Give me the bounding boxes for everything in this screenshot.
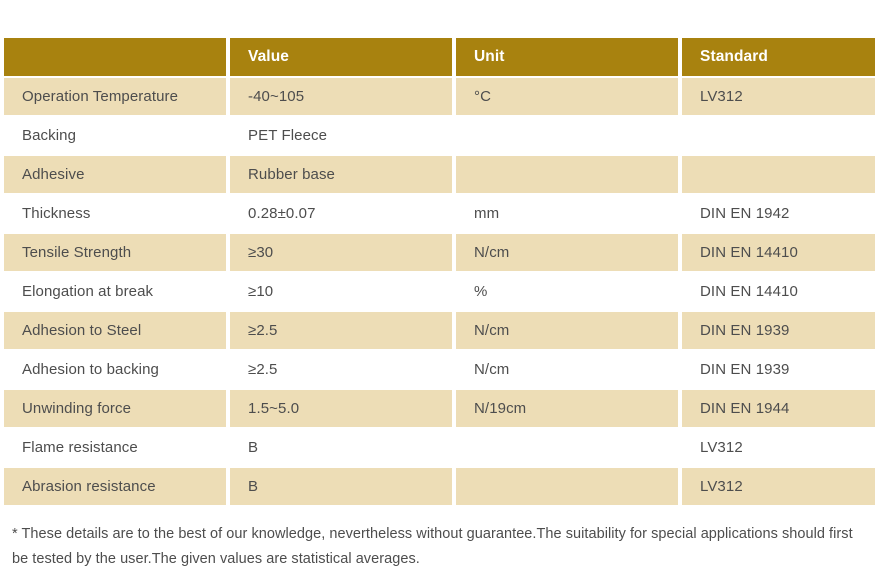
cell-value: B	[230, 468, 452, 505]
table-row: Abrasion resistance B LV312	[4, 468, 875, 505]
column-header-property	[4, 38, 226, 76]
cell-standard: DIN EN 14410	[682, 234, 875, 271]
disclaimer-footnote: * These details are to the best of our k…	[12, 522, 868, 572]
cell-unit: %	[456, 273, 678, 310]
table-header: Value Unit Standard	[4, 38, 875, 76]
cell-property: Flame resistance	[4, 429, 226, 466]
cell-standard: DIN EN 1942	[682, 195, 875, 232]
cell-property: Tensile Strength	[4, 234, 226, 271]
table-row: Elongation at break ≥10 % DIN EN 14410	[4, 273, 875, 310]
table-row: Adhesive Rubber base	[4, 156, 875, 193]
cell-unit: N/19cm	[456, 390, 678, 427]
cell-unit: N/cm	[456, 351, 678, 388]
cell-standard	[682, 117, 875, 154]
column-header-value: Value	[230, 38, 452, 76]
cell-property: Adhesion to Steel	[4, 312, 226, 349]
cell-value: 0.28±0.07	[230, 195, 452, 232]
cell-value: ≥2.5	[230, 312, 452, 349]
cell-value: PET Fleece	[230, 117, 452, 154]
column-header-unit: Unit	[456, 38, 678, 76]
cell-value: ≥2.5	[230, 351, 452, 388]
cell-value: B	[230, 429, 452, 466]
cell-standard: DIN EN 1944	[682, 390, 875, 427]
cell-property: Adhesion to backing	[4, 351, 226, 388]
cell-value: -40~105	[230, 78, 452, 115]
cell-property: Backing	[4, 117, 226, 154]
cell-standard: DIN EN 14410	[682, 273, 875, 310]
cell-property: Adhesive	[4, 156, 226, 193]
cell-unit	[456, 468, 678, 505]
table-row: Thickness 0.28±0.07 mm DIN EN 1942	[4, 195, 875, 232]
table-row: Unwinding force 1.5~5.0 N/19cm DIN EN 19…	[4, 390, 875, 427]
cell-standard: LV312	[682, 468, 875, 505]
cell-unit: mm	[456, 195, 678, 232]
cell-unit	[456, 429, 678, 466]
cell-standard: LV312	[682, 429, 875, 466]
table-body: Operation Temperature -40~105 °C LV312 B…	[4, 78, 875, 505]
cell-property: Unwinding force	[4, 390, 226, 427]
spec-sheet: Value Unit Standard Operation Temperatur…	[0, 0, 875, 585]
cell-value: 1.5~5.0	[230, 390, 452, 427]
cell-unit: N/cm	[456, 234, 678, 271]
table-row: Backing PET Fleece	[4, 117, 875, 154]
column-header-standard: Standard	[682, 38, 875, 76]
table-row: Tensile Strength ≥30 N/cm DIN EN 14410	[4, 234, 875, 271]
cell-property: Thickness	[4, 195, 226, 232]
table-row: Operation Temperature -40~105 °C LV312	[4, 78, 875, 115]
cell-property: Abrasion resistance	[4, 468, 226, 505]
table-row: Adhesion to backing ≥2.5 N/cm DIN EN 193…	[4, 351, 875, 388]
cell-unit	[456, 156, 678, 193]
cell-unit	[456, 117, 678, 154]
cell-standard	[682, 156, 875, 193]
cell-value: ≥10	[230, 273, 452, 310]
specifications-table: Value Unit Standard Operation Temperatur…	[0, 36, 875, 507]
cell-value: Rubber base	[230, 156, 452, 193]
cell-unit: N/cm	[456, 312, 678, 349]
cell-standard: DIN EN 1939	[682, 312, 875, 349]
cell-standard: LV312	[682, 78, 875, 115]
cell-unit: °C	[456, 78, 678, 115]
cell-property: Elongation at break	[4, 273, 226, 310]
table-header-row: Value Unit Standard	[4, 38, 875, 76]
cell-property: Operation Temperature	[4, 78, 226, 115]
table-row: Adhesion to Steel ≥2.5 N/cm DIN EN 1939	[4, 312, 875, 349]
cell-standard: DIN EN 1939	[682, 351, 875, 388]
cell-value: ≥30	[230, 234, 452, 271]
table-row: Flame resistance B LV312	[4, 429, 875, 466]
